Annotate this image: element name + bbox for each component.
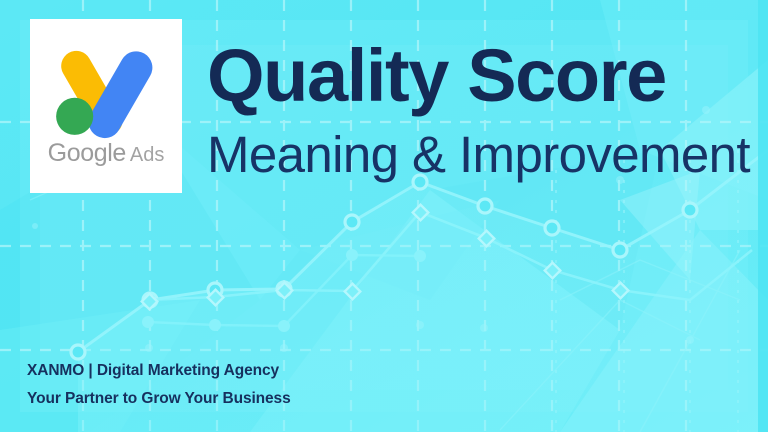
google-ads-mark-icon [48, 27, 164, 143]
footer-block: XANMO | Digital Marketing Agency Your Pa… [27, 357, 487, 414]
series-secondary [142, 205, 752, 310]
footer-tagline: Your Partner to Grow Your Business [27, 385, 487, 414]
heading-block: Quality Score Meaning & Improvement [207, 40, 752, 182]
page-title: Quality Score [207, 40, 752, 111]
logo-word-google: Google [48, 141, 126, 166]
logo-green-circle [56, 98, 93, 135]
dotted-grid [556, 150, 738, 432]
right-edge-strip [758, 0, 768, 432]
series-tertiary [142, 249, 426, 332]
footer-agency-line: XANMO | Digital Marketing Agency [27, 357, 487, 386]
page-subtitle: Meaning & Improvement [207, 128, 752, 182]
logo-word-ads: Ads [130, 145, 164, 165]
slide-canvas: Google Ads Quality Score Meaning & Impro… [0, 0, 768, 432]
google-ads-logo-card: Google Ads [30, 19, 182, 193]
google-ads-wordmark: Google Ads [30, 141, 182, 166]
